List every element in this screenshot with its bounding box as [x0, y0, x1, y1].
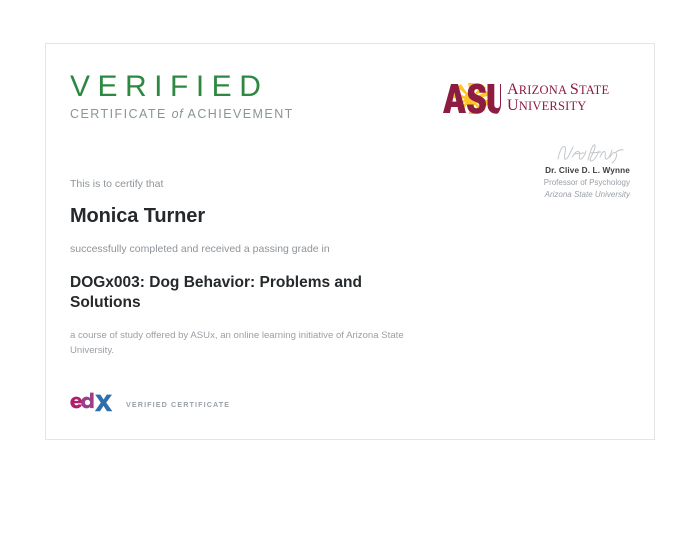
grade-statement: successfully completed and received a pa…: [70, 242, 490, 257]
lead-text: This is to certify that: [70, 177, 490, 192]
asu-logo: ARIZONA STATE UNIVERSITY: [441, 80, 609, 116]
course-title: DOGx003: Dog Behavior: Problems and Solu…: [70, 273, 390, 313]
edx-logo-icon: [70, 392, 112, 417]
asu-wordmark-rizona: RIZONA: [519, 83, 570, 97]
certificate-body: This is to certify that Monica Turner su…: [70, 177, 490, 358]
asu-wordmark-tate: TATE: [579, 83, 609, 97]
subtitle-of-word: of: [172, 107, 184, 121]
certificate-subtitle: CERTIFICATE of ACHIEVEMENT: [70, 107, 294, 122]
asu-wordmark-line2: UNIVERSITY: [507, 98, 609, 115]
verified-heading: VERIFIED: [70, 71, 294, 103]
signatory-name: Dr. Clive D. L. Wynne: [450, 165, 630, 177]
asu-wordmark-niversity: NIVERSITY: [519, 99, 587, 113]
subtitle-achievement-word: ACHIEVEMENT: [183, 107, 293, 121]
certificate-card: VERIFIED CERTIFICATE of ACHIEVEMENT: [45, 43, 655, 440]
certificate-header: VERIFIED CERTIFICATE of ACHIEVEMENT: [46, 44, 654, 154]
asu-wordmark-cap-a: A: [507, 81, 519, 98]
recipient-name: Monica Turner: [70, 204, 490, 228]
subtitle-certificate-word: CERTIFICATE: [70, 107, 172, 121]
asu-sunburst-mark-icon: [441, 82, 501, 115]
handwritten-signature-icon: [450, 139, 630, 165]
asu-wordmark-cap-s: S: [570, 81, 579, 98]
certificate-footer: VERIFIED CERTIFICATE: [70, 392, 230, 417]
verified-certificate-label: VERIFIED CERTIFICATE: [126, 400, 230, 409]
course-description: a course of study offered by ASUx, an on…: [70, 328, 420, 358]
verified-title-block: VERIFIED CERTIFICATE of ACHIEVEMENT: [70, 71, 294, 122]
asu-wordmark: ARIZONA STATE UNIVERSITY: [507, 82, 609, 115]
asu-wordmark-cap-u: U: [507, 97, 519, 114]
certificate-page: VERIFIED CERTIFICATE of ACHIEVEMENT: [0, 0, 700, 540]
asu-wordmark-line1: ARIZONA STATE: [507, 82, 609, 99]
